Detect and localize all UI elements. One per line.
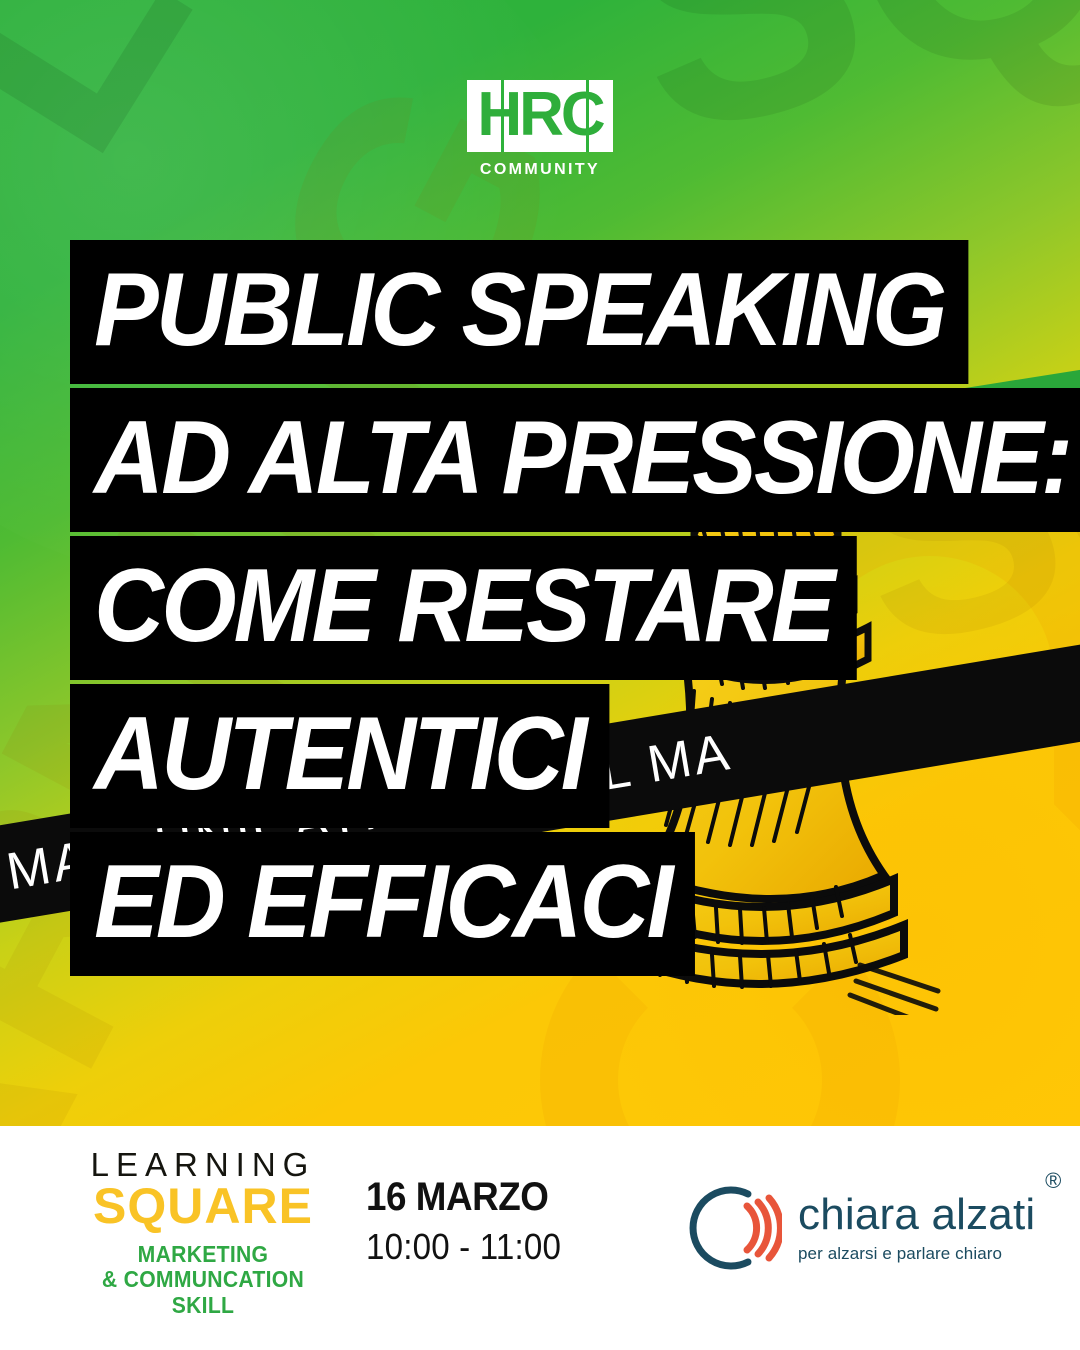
title-line-3: COME RESTARE — [70, 536, 857, 680]
title-line-2: AD ALTA PRESSIONE: — [70, 388, 1080, 532]
event-time: 10:00 - 11:00 — [366, 1225, 561, 1268]
poster-canvas: LEARNING SQUARE SQUARE ARNING — [0, 0, 1080, 1350]
learning-square-subtitle-line-1: MARKETING — [88, 1242, 318, 1268]
footer-bar: LEARNING SQUARE MARKETING & COMMUNCATION… — [0, 1126, 1080, 1350]
chiara-alzati-wordmark: chiara alzati® per alzarsi e parlare chi… — [798, 1193, 1035, 1264]
chiara-alzati-logo: chiara alzati® per alzarsi e parlare chi… — [674, 1178, 1035, 1278]
title-line-5: ED EFFICACI — [70, 832, 695, 976]
title-line-4: AUTENTICI — [70, 684, 609, 828]
registered-trademark-icon: ® — [1045, 1168, 1061, 1194]
speaker-tagline: per alzarsi e parlare chiaro — [798, 1244, 1035, 1264]
event-date-block: 16 MARZO 10:00 - 11:00 — [366, 1174, 578, 1268]
event-date: 16 MARZO — [366, 1174, 561, 1220]
learning-square-word-bottom: SQUARE — [78, 1181, 328, 1232]
learning-square-subtitle-line-2: & COMMUNCATION SKILL — [88, 1267, 318, 1319]
hrc-community-label: COMMUNITY — [0, 161, 1080, 179]
hrc-letters: HRC — [477, 84, 602, 146]
title-line-1: PUBLIC SPEAKING — [70, 240, 969, 384]
hero-background: LEARNING SQUARE SQUARE ARNING — [0, 0, 1080, 1126]
title-stack: PUBLIC SPEAKING AD ALTA PRESSIONE: COME … — [70, 240, 1080, 976]
speaker-name: chiara alzati — [798, 1193, 1035, 1237]
speaker-sound-circle-icon — [674, 1178, 782, 1278]
hrc-logo: HRC COMMUNITY — [0, 80, 1080, 179]
hrc-divider-right — [586, 80, 589, 152]
hrc-divider-left — [501, 80, 504, 152]
hrc-logo-mark: HRC — [467, 80, 612, 152]
learning-square-logo: LEARNING SQUARE MARKETING & COMMUNCATION… — [78, 1148, 328, 1319]
